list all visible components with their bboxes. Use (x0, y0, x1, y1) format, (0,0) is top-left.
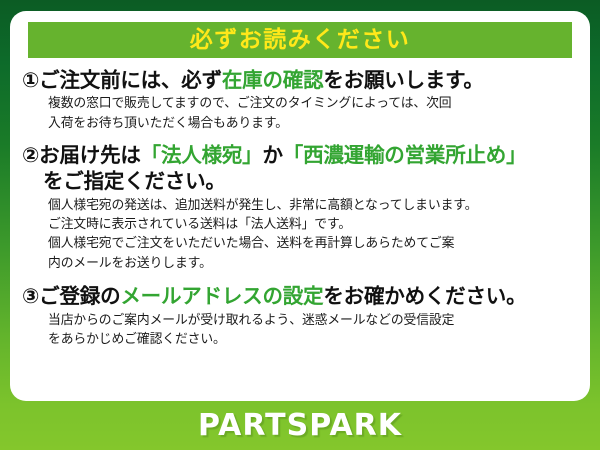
notice-frame: 必ずお読みください ①ご注文前には、必ず在庫の確認をお願いします。 複数の窓口で… (0, 0, 600, 450)
notice-item-2-body-line-3: 個人様宅宛でご注文をいただいた場合、送料を再計算しあらためてご案 (48, 234, 578, 253)
notice-item-1-body-line-2: 入荷をお待ち頂いただく場合もあります。 (48, 114, 578, 133)
notice-item-2-heading: ②お届け先は「法人様宛」か「西濃運輸の営業所止め」をご指定ください。 (22, 142, 578, 194)
notice-item-1-body: 複数の窓口で販売してますので、ご注文のタイミングによっては、次回 入荷をお待ち頂… (22, 94, 578, 133)
notice-item-3-heading-part-3: をお確かめください。 (323, 284, 526, 308)
notice-item-2: ②お届け先は「法人様宛」か「西濃運輸の営業所止め」をご指定ください。 個人様宅宛… (22, 142, 578, 273)
notice-item-3-heading-part-1: ご登録の (39, 284, 120, 308)
notice-item-2-body-line-2: ご注文時に表示されている送料は「法人送料」です。 (48, 215, 578, 234)
notice-item-2-heading-part-3: か (262, 143, 282, 167)
notice-item-1: ①ご注文前には、必ず在庫の確認をお願いします。 複数の窓口で販売してますので、ご… (22, 67, 578, 133)
notice-item-2-body-line-4: 内のメールをお送りします。 (48, 254, 578, 273)
notice-item-3: ③ご登録のメールアドレスの設定をお確かめください。 当店からのご案内メールが受け… (22, 283, 578, 349)
notice-item-2-body: 個人様宅宛の発送は、追加送料が発生し、非常に高額となってしまいます。 ご注文時に… (22, 196, 578, 274)
notice-item-1-heading-highlight: 在庫の確認 (222, 68, 324, 92)
notice-list: ①ご注文前には、必ず在庫の確認をお願いします。 複数の窓口で販売してますので、ご… (10, 67, 590, 351)
notice-item-3-body-line-2: をあらかじめご確認ください。 (48, 330, 578, 349)
notice-item-3-heading-highlight: メールアドレスの設定 (120, 284, 323, 308)
notice-item-3-body-line-1: 当店からのご案内メールが受け取れるよう、迷惑メールなどの受信設定 (48, 311, 578, 330)
notice-item-2-marker: ② (22, 143, 39, 167)
notice-item-1-heading-part-1: ご注文前には、必ず (39, 68, 222, 92)
notice-card: 必ずお読みください ①ご注文前には、必ず在庫の確認をお願いします。 複数の窓口で… (10, 11, 590, 401)
notice-item-3-body: 当店からのご案内メールが受け取れるよう、迷惑メールなどの受信設定 をあらかじめご… (22, 311, 578, 350)
notice-item-1-body-line-1: 複数の窓口で販売してますので、ご注文のタイミングによっては、次回 (48, 94, 578, 113)
notice-item-1-heading-part-3: をお願いします。 (323, 68, 483, 92)
brand-logo-text: PARTSPARK (198, 411, 402, 441)
notice-item-3-heading: ③ご登録のメールアドレスの設定をお確かめください。 (22, 283, 578, 309)
header-banner: 必ずお読みください (28, 22, 572, 58)
notice-item-2-heading-line-2: をご指定ください。 (22, 168, 578, 194)
notice-item-1-heading: ①ご注文前には、必ず在庫の確認をお願いします。 (22, 67, 578, 93)
footer-brand: PARTSPARK (0, 401, 600, 450)
notice-item-2-heading-part-1: お届け先は (39, 143, 141, 167)
page-title: 必ずお読みください (190, 29, 411, 52)
notice-item-1-marker: ① (22, 68, 39, 92)
notice-item-2-heading-highlight-2: 「西濃運輸の営業所止め」 (283, 143, 527, 167)
notice-item-2-body-line-1: 個人様宅宛の発送は、追加送料が発生し、非常に高額となってしまいます。 (48, 196, 578, 215)
notice-item-2-heading-highlight-1: 「法人様宛」 (141, 143, 263, 167)
notice-item-3-marker: ③ (22, 284, 39, 308)
